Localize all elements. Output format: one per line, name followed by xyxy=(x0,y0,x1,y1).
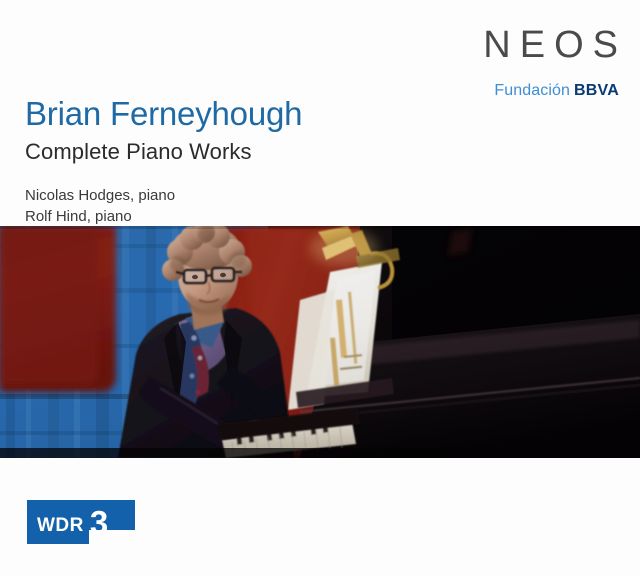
wdr3-logo: WDR 3 xyxy=(27,500,135,544)
album-title: Complete Piano Works xyxy=(25,139,302,164)
wdr3-logo-channel-text: 3 xyxy=(90,504,108,541)
cover-photograph xyxy=(0,226,640,458)
bbva-sponsor-logo: FundaciónBBVA xyxy=(483,83,619,99)
performer-credit-2: Rolf Hind, piano xyxy=(25,207,302,227)
wdr3-logo-artwork: WDR 3 xyxy=(27,500,135,544)
performer-credit-1: Nicolas Hodges, piano xyxy=(25,186,302,206)
album-cover: NEOS FundaciónBBVA Brian Ferneyhough Com… xyxy=(0,0,640,576)
bbva-wordmark: BBVA xyxy=(574,82,619,99)
composer-name: Brian Ferneyhough xyxy=(25,96,302,133)
bbva-fundacion-text: Fundación xyxy=(494,82,570,99)
performer-credits: Nicolas Hodges, piano Rolf Hind, piano xyxy=(25,186,302,227)
neos-wordmark: NEOS xyxy=(483,26,627,64)
title-block: Brian Ferneyhough Complete Piano Works N… xyxy=(25,96,302,227)
photograph-artwork xyxy=(0,226,640,458)
label-logo-block: NEOS FundaciónBBVA xyxy=(483,26,618,99)
wdr3-logo-wdr-text: WDR xyxy=(37,515,84,536)
